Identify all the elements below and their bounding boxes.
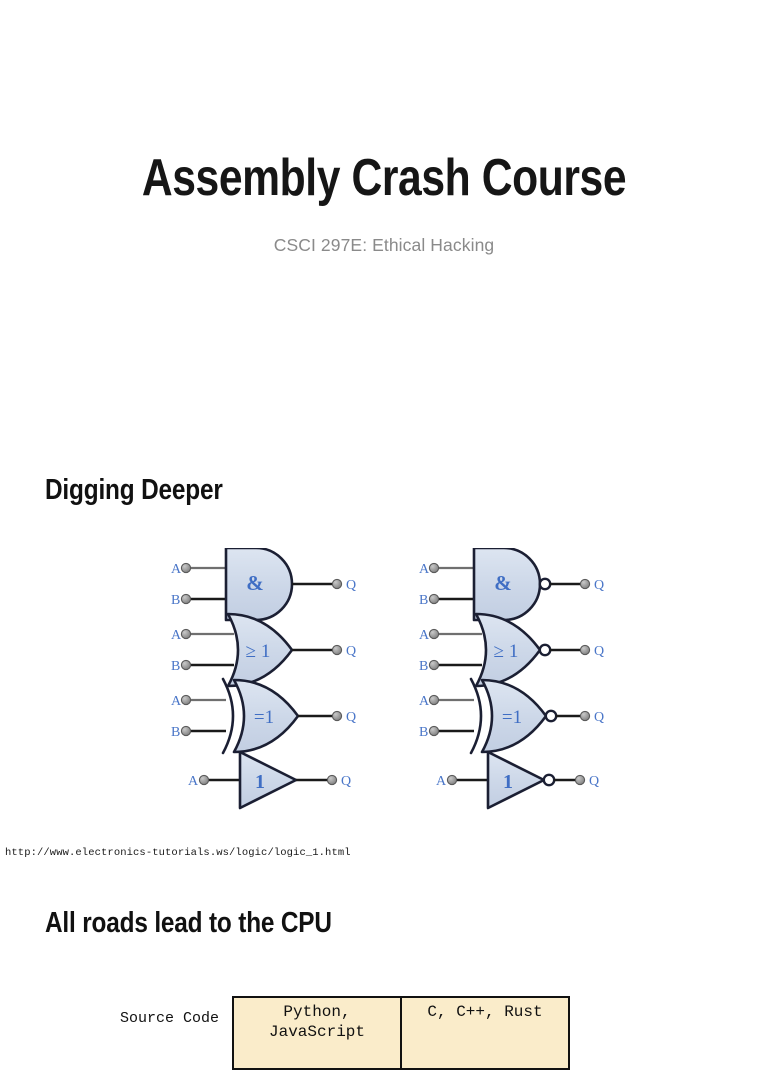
gate-symbol: =1: [502, 707, 522, 728]
gate-xnor: A B =1 Q: [419, 679, 604, 753]
gate-symbol: 1: [255, 771, 265, 793]
compilation-pipeline: Source Code Python,JavaScript C, C++, Ru…: [120, 996, 640, 1070]
gate-or: A B ≥ 1 Q: [171, 614, 356, 686]
gate-symbol: =1: [254, 707, 274, 728]
gate-output-label: Q: [341, 774, 351, 789]
logic-gates-figure: A B & Q A B &: [160, 548, 630, 830]
gate-input-label: A: [419, 694, 430, 709]
pipeline-table: Python,JavaScript C, C++, Rust: [232, 996, 570, 1070]
gate-input-label: A: [188, 774, 199, 789]
gate-input-label: B: [419, 593, 428, 608]
pipeline-cell-compiled: C, C++, Rust: [401, 997, 569, 1069]
figure-source-url[interactable]: http://www.electronics-tutorials.ws/logi…: [5, 847, 351, 859]
gate-output-label: Q: [594, 710, 604, 725]
inversion-bubble-icon: [540, 645, 550, 655]
title-block: Assembly Crash Course CSCI 297E: Ethical…: [0, 150, 768, 256]
gate-output-label: Q: [594, 578, 604, 593]
gate-symbol: 1: [503, 771, 513, 793]
gate-output-label: Q: [346, 644, 356, 659]
page-title: Assembly Crash Course: [69, 150, 699, 207]
gate-and: A B & Q: [171, 548, 356, 620]
logic-gates-svg: A B & Q A B &: [160, 548, 630, 830]
gate-xor: A B =1 Q: [171, 679, 356, 753]
slide-page: Assembly Crash Course CSCI 297E: Ethical…: [0, 0, 768, 1024]
inversion-bubble-icon: [540, 579, 550, 589]
page-subtitle: CSCI 297E: Ethical Hacking: [0, 235, 768, 256]
gate-symbol: ≥ 1: [246, 641, 271, 662]
gate-output-label: Q: [346, 710, 356, 725]
section-heading-all-roads-cpu: All roads lead to the CPU: [45, 907, 332, 940]
pipeline-cell-interpreted: Python,JavaScript: [233, 997, 401, 1069]
table-row: Python,JavaScript C, C++, Rust: [233, 997, 569, 1069]
gate-input-label: A: [171, 628, 182, 643]
section-heading-digging-deeper: Digging Deeper: [45, 474, 223, 507]
gate-input-label: B: [171, 593, 180, 608]
gate-input-label: A: [171, 562, 182, 577]
gate-input-label: A: [171, 694, 182, 709]
inversion-bubble-icon: [544, 775, 554, 785]
gate-symbol: &: [494, 571, 512, 595]
gate-buffer: A 1 Q: [188, 752, 351, 808]
gate-output-label: Q: [346, 578, 356, 593]
gate-input-label: A: [419, 628, 430, 643]
gate-not: A 1 Q: [436, 752, 599, 808]
gate-nor: A B ≥ 1 Q: [419, 614, 604, 686]
gate-symbol: ≥ 1: [494, 641, 519, 662]
gate-input-label: A: [419, 562, 430, 577]
gate-input-label: B: [419, 725, 428, 740]
gate-input-label: B: [171, 725, 180, 740]
inversion-bubble-icon: [546, 711, 556, 721]
gate-output-label: Q: [594, 644, 604, 659]
gate-input-label: B: [171, 659, 180, 674]
gate-output-label: Q: [589, 774, 599, 789]
gate-input-label: A: [436, 774, 447, 789]
gate-input-label: B: [419, 659, 428, 674]
gate-nand: A B & Q: [419, 548, 604, 620]
gate-symbol: &: [246, 571, 264, 595]
pipeline-row-label: Source Code: [120, 996, 232, 1027]
